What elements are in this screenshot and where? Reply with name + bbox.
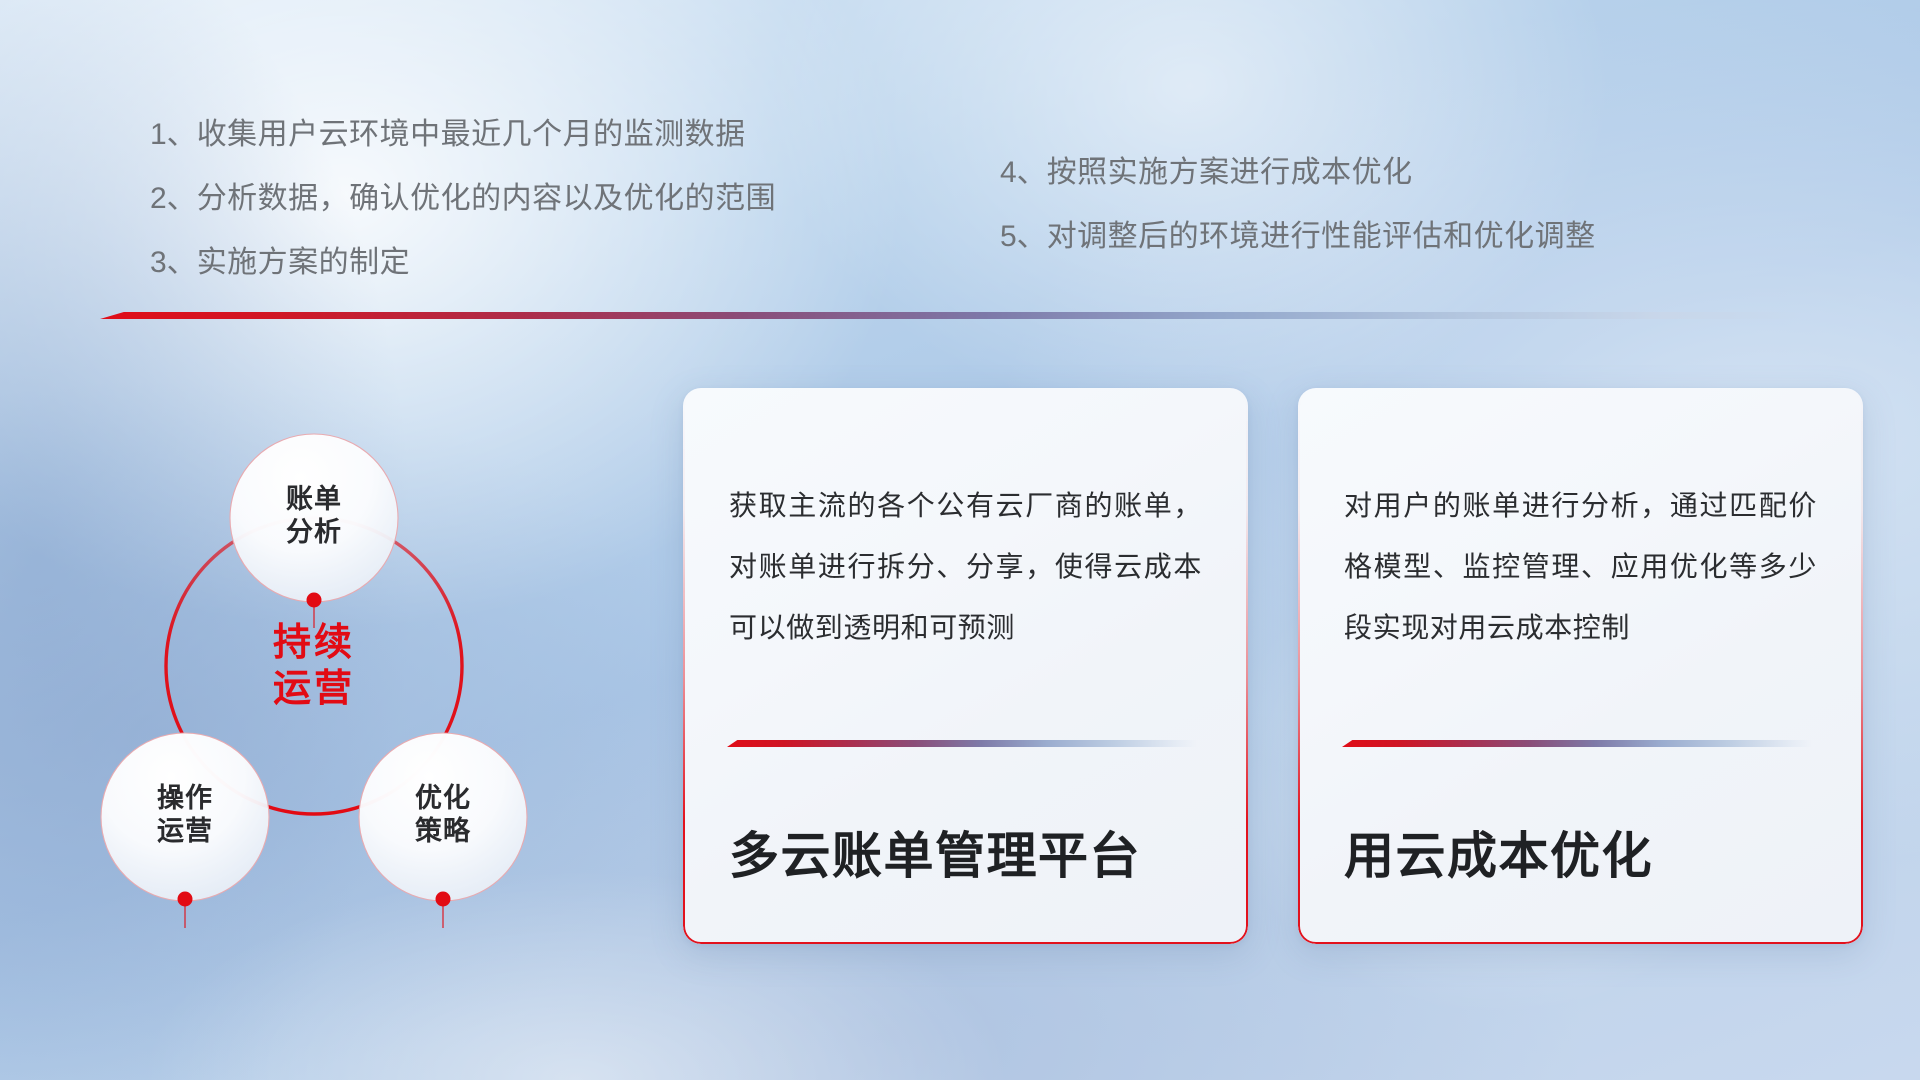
- step-text: 实施方案的制定: [197, 246, 411, 279]
- step-number: 2、: [150, 182, 197, 215]
- divider-gradient-bar: [100, 312, 1800, 319]
- venn-dot-strategy: [436, 892, 451, 907]
- step-item: 2、分析数据，确认优化的内容以及优化的范围: [150, 184, 776, 214]
- venn-bubble-billing[interactable]: [230, 434, 398, 602]
- step-item: 1、收集用户云环境中最近几个月的监测数据: [150, 120, 776, 150]
- steps-list-right: 4、按照实施方案进行成本优化 5、对调整后的环境进行性能评估和优化调整: [1000, 158, 1596, 252]
- step-number: 4、: [1000, 156, 1047, 189]
- step-text: 对调整后的环境进行性能评估和优化调整: [1047, 220, 1596, 253]
- step-item: 3、实施方案的制定: [150, 248, 776, 278]
- step-number: 1、: [150, 118, 197, 151]
- steps-list-left: 1、收集用户云环境中最近几个月的监测数据 2、分析数据，确认优化的内容以及优化的…: [150, 120, 776, 278]
- feature-card-multicloud-billing[interactable]: 获取主流的各个公有云厂商的账单，对账单进行拆分、分享，使得云成本可以做到透明和可…: [683, 388, 1248, 944]
- feature-card-cost-optimization[interactable]: 对用户的账单进行分析，通过匹配价格模型、监控管理、应用优化等多少段实现对用云成本…: [1298, 388, 1863, 944]
- step-text: 分析数据，确认优化的内容以及优化的范围: [197, 182, 777, 215]
- venn-bubble-strategy[interactable]: [359, 733, 527, 901]
- card-description: 对用户的账单进行分析，通过匹配价格模型、监控管理、应用优化等多少段实现对用云成本…: [1344, 476, 1817, 658]
- venn-dot-operations: [178, 892, 193, 907]
- section-divider: [100, 312, 1800, 322]
- card-title: 用云成本优化: [1344, 829, 1653, 884]
- card-title: 多云账单管理平台: [729, 829, 1141, 884]
- step-number: 3、: [150, 246, 197, 279]
- step-text: 收集用户云环境中最近几个月的监测数据: [197, 118, 746, 151]
- slide-stage: 1、收集用户云环境中最近几个月的监测数据 2、分析数据，确认优化的内容以及优化的…: [0, 0, 1920, 1080]
- card-accent-bar: [727, 740, 1197, 747]
- venn-svg: [90, 350, 670, 970]
- step-text: 按照实施方案进行成本优化: [1047, 156, 1413, 189]
- card-description: 获取主流的各个公有云厂商的账单，对账单进行拆分、分享，使得云成本可以做到透明和可…: [729, 476, 1202, 658]
- step-item: 5、对调整后的环境进行性能评估和优化调整: [1000, 222, 1596, 252]
- card-accent-bar: [1342, 740, 1812, 747]
- venn-bubble-operations[interactable]: [101, 733, 269, 901]
- venn-dot-billing: [307, 593, 322, 608]
- venn-diagram: 持续 运营 账单 分析 操作 运营 优化 策略: [90, 350, 670, 970]
- step-number: 5、: [1000, 220, 1047, 253]
- step-item: 4、按照实施方案进行成本优化: [1000, 158, 1596, 188]
